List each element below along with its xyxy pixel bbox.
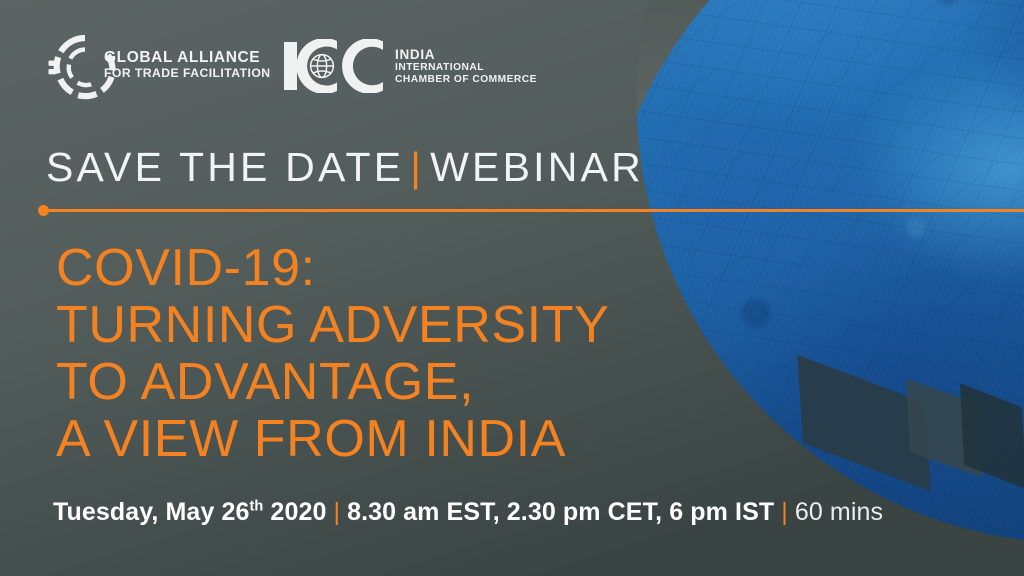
artwork-shading bbox=[600, 0, 1024, 576]
icc-line-1: INDIA bbox=[395, 47, 537, 62]
icc-wordmark-text: INDIA INTERNATIONAL CHAMBER OF COMMERCE bbox=[395, 47, 537, 85]
event-date: Tuesday, May 26 bbox=[53, 498, 250, 526]
orange-divider-dot bbox=[38, 205, 49, 216]
footer-separator-1: | bbox=[326, 498, 347, 526]
eyebrow-right-label: WEBINAR bbox=[430, 144, 644, 190]
event-times: 8.30 am EST, 2.30 pm CET, 6 pm IST bbox=[347, 498, 774, 526]
gatf-line-2: FOR TRADE FACILITATION bbox=[104, 67, 271, 80]
global-alliance-wordmark: GLOBAL ALLIANCE FOR TRADE FACILITATION bbox=[104, 50, 271, 80]
date-ordinal-suffix: th bbox=[250, 499, 264, 515]
blue-circle-artwork bbox=[600, 0, 1024, 576]
event-duration: 60 mins bbox=[795, 498, 883, 526]
event-details-line: Tuesday, May 26th 2020|8.30 am EST, 2.30… bbox=[53, 498, 883, 527]
global-alliance-logo: GLOBAL ALLIANCE FOR TRADE FACILITATION bbox=[46, 30, 226, 102]
page-title: COVID-19: TURNING ADVERSITY TO ADVANTAGE… bbox=[56, 240, 609, 468]
webinar-save-the-date-banner: GLOBAL ALLIANCE FOR TRADE FACILITATION bbox=[0, 0, 1024, 576]
eyebrow-line: SAVE THE DATE|WEBINAR bbox=[46, 144, 644, 191]
icc-line-2: INTERNATIONAL bbox=[395, 62, 537, 73]
event-year: 2020 bbox=[263, 498, 326, 526]
eyebrow-left-label: SAVE THE DATE bbox=[46, 144, 404, 190]
gatf-line-1: GLOBAL ALLIANCE bbox=[104, 50, 271, 66]
eyebrow-separator: | bbox=[404, 144, 430, 190]
orange-divider-rule bbox=[44, 209, 1024, 212]
footer-separator-2: | bbox=[774, 498, 795, 526]
icc-line-3: CHAMBER OF COMMERCE bbox=[395, 74, 537, 85]
icc-logo: INDIA INTERNATIONAL CHAMBER OF COMMERCE bbox=[282, 36, 537, 96]
logo-row: GLOBAL ALLIANCE FOR TRADE FACILITATION bbox=[46, 30, 537, 102]
icc-globe-icon bbox=[282, 39, 386, 93]
